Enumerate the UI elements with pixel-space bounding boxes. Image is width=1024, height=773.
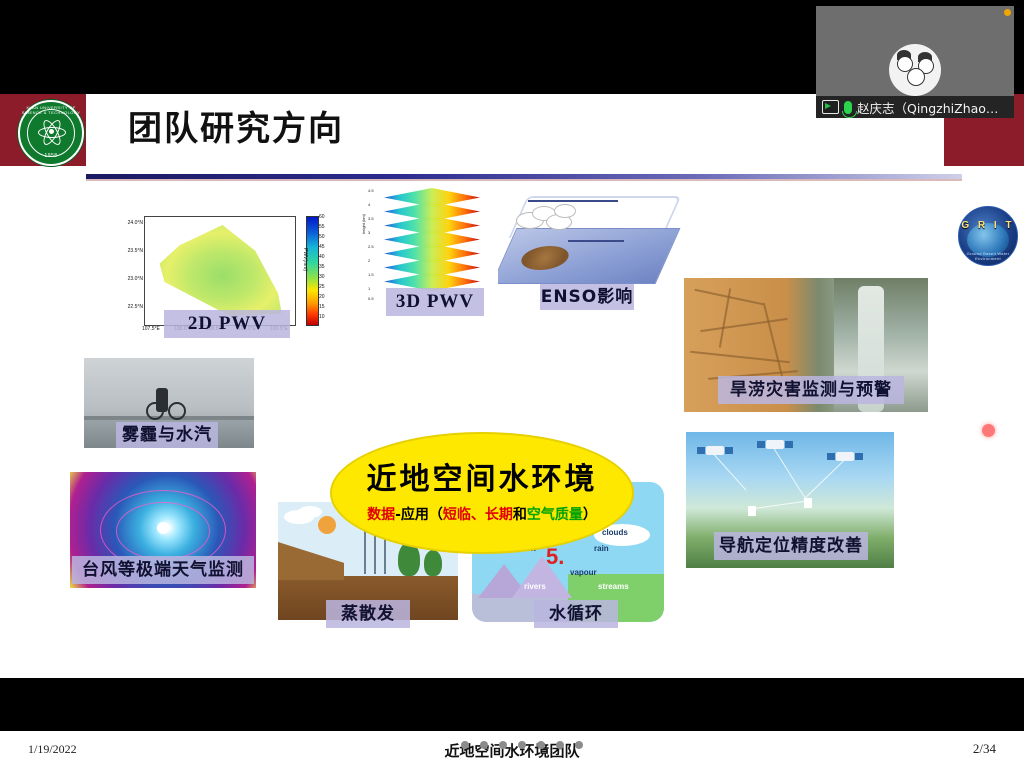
screen: XI'AN UNIVERSITY OF SCIENCE & TECHNOLOGY… [0, 0, 1024, 768]
satellite-icon [706, 446, 724, 455]
pwv2d-ytick: 23.5°N [110, 248, 143, 254]
participant-name: 赵庆志（QingzhiZhao… [857, 98, 998, 117]
colorbar-tick: 55 [319, 224, 325, 230]
cloud-icon [554, 204, 576, 218]
xust-university-seal-icon: XI'AN UNIVERSITY OF SCIENCE & TECHNOLOGY… [18, 100, 84, 166]
pwv2d-xtick: 107.5°E [142, 326, 160, 332]
pwv3d-ytick: 1 [368, 286, 370, 291]
pwv3d-ytick: 3 [368, 230, 370, 235]
bicycle-wheel [146, 402, 164, 420]
colorbar-tick: 15 [319, 304, 325, 310]
caption-3d-pwv: 3D PWV [386, 288, 484, 316]
pwv2d-ytick: 24.0°N [110, 220, 143, 226]
pwv3d-ytick: 2 [368, 258, 370, 263]
central-topic-ellipse: 近地空间水环境 数据-应用（短临、长期和空气质量） [330, 432, 634, 554]
caption-typhoon: 台风等极端天气监测 [72, 556, 254, 584]
sun-icon [318, 516, 336, 534]
satellite-icon [766, 440, 784, 449]
participant-video-tile[interactable]: 赵庆志（QingzhiZhao… [816, 6, 1014, 118]
slide-body: 24.0°N 23.5°N 23.0°N 22.5°N 107.5°E 108.… [0, 182, 1024, 650]
caption-enso: ENSO影响 [540, 284, 634, 310]
subtitle-part-terms: 短临、长期 [443, 507, 513, 523]
colorbar-tick: 10 [319, 314, 325, 320]
satellite-icon [836, 452, 854, 461]
pwv3d-ytick: 1.5 [368, 272, 374, 277]
colorbar-tick: 20 [319, 294, 325, 300]
colorbar-tick: 60 [319, 214, 325, 220]
label-streams: streams [598, 582, 629, 591]
subtitle-part-data: 数据 [367, 507, 395, 523]
label-clouds-right: clouds [602, 528, 628, 537]
seal-year: 1958 [20, 153, 82, 159]
pwv3d-ytick: 2.5 [368, 244, 374, 249]
page-title: 团队研究方向 [128, 104, 344, 154]
seal-top-text: XI'AN UNIVERSITY OF SCIENCE & TECHNOLOGY [20, 105, 82, 115]
bicycle-wheel [168, 402, 186, 420]
screen-share-icon [822, 100, 839, 114]
slide-dot-8[interactable] [575, 741, 583, 749]
caption-evaporation: 蒸散发 [326, 600, 410, 628]
slide-dot-4[interactable] [499, 741, 507, 749]
colorbar-tick: 45 [319, 244, 325, 250]
caption-2d-pwv: 2D PWV [164, 310, 290, 338]
typhoon-eye [157, 522, 169, 534]
colorbar-title: PWV(mm) [302, 248, 308, 271]
pwv3d-ytick: 0.5 [368, 296, 374, 301]
seal-nucleus [49, 129, 54, 134]
slide-dot-6[interactable] [537, 741, 545, 749]
recording-indicator-dot [982, 424, 995, 437]
slide-dot-1[interactable] [442, 741, 450, 749]
plant-icon [424, 550, 442, 576]
cloud-icon [298, 506, 322, 518]
pwv2d-heatmap [157, 225, 283, 317]
colorbar-tick: 35 [319, 264, 325, 270]
colorbar-tick: 25 [319, 284, 325, 290]
label-vapour: vapour [570, 568, 597, 577]
slide-dot-7[interactable] [556, 741, 564, 749]
label-rivers: rivers [524, 582, 546, 591]
pwv2d-ytick: 23.0°N [110, 276, 143, 282]
subtitle-part-application: -应用（ [395, 507, 443, 523]
enso-circulation-arrow [528, 200, 618, 202]
avatar [889, 44, 941, 96]
subtitle-part-close: ） [583, 507, 597, 523]
central-topic-subtitle: 数据-应用（短临、长期和空气质量） [367, 504, 597, 524]
pwv3d-ytick: 4.5 [368, 188, 374, 193]
colorbar-tick: 40 [319, 254, 325, 260]
participant-name-bar: 赵庆志（QingzhiZhao… [816, 96, 1014, 118]
header-divider-secondary [86, 179, 962, 181]
caption-water-cycle: 水循环 [534, 600, 618, 628]
slide-navigation-dots[interactable] [0, 738, 1024, 752]
pwv3d-axis-label: height (km) [361, 214, 366, 234]
mountain-shape [512, 556, 572, 598]
subtitle-part-airquality: 空气质量 [527, 507, 583, 523]
caption-haze: 雾霾与水汽 [116, 422, 218, 448]
enso-circulation-arrow [568, 240, 624, 242]
colorbar-tick: 30 [319, 274, 325, 280]
subtitle-part-and: 和 [513, 507, 527, 523]
caption-drought-flood: 旱涝灾害监测与预警 [718, 376, 904, 404]
label-rain: rain [594, 544, 609, 553]
pwv2d-ytick: 22.5°N [110, 304, 143, 310]
pwv3d-ytick: 3.5 [368, 216, 374, 221]
microphone-icon[interactable] [844, 101, 852, 114]
slide-dot-3[interactable] [480, 741, 488, 749]
caption-navigation: 导航定位精度改善 [714, 532, 868, 560]
slide-dot-2[interactable] [461, 741, 469, 749]
status-indicator [1004, 9, 1011, 16]
slide: XI'AN UNIVERSITY OF SCIENCE & TECHNOLOGY… [0, 94, 1024, 678]
pwv3d-ytick: 4 [368, 202, 370, 207]
avatar-face [907, 68, 925, 86]
colorbar-tick: 50 [319, 234, 325, 240]
seal-atom-icon [38, 118, 64, 144]
slide-dot-5[interactable] [518, 741, 526, 749]
central-topic-title: 近地空间水环境 [367, 462, 598, 498]
